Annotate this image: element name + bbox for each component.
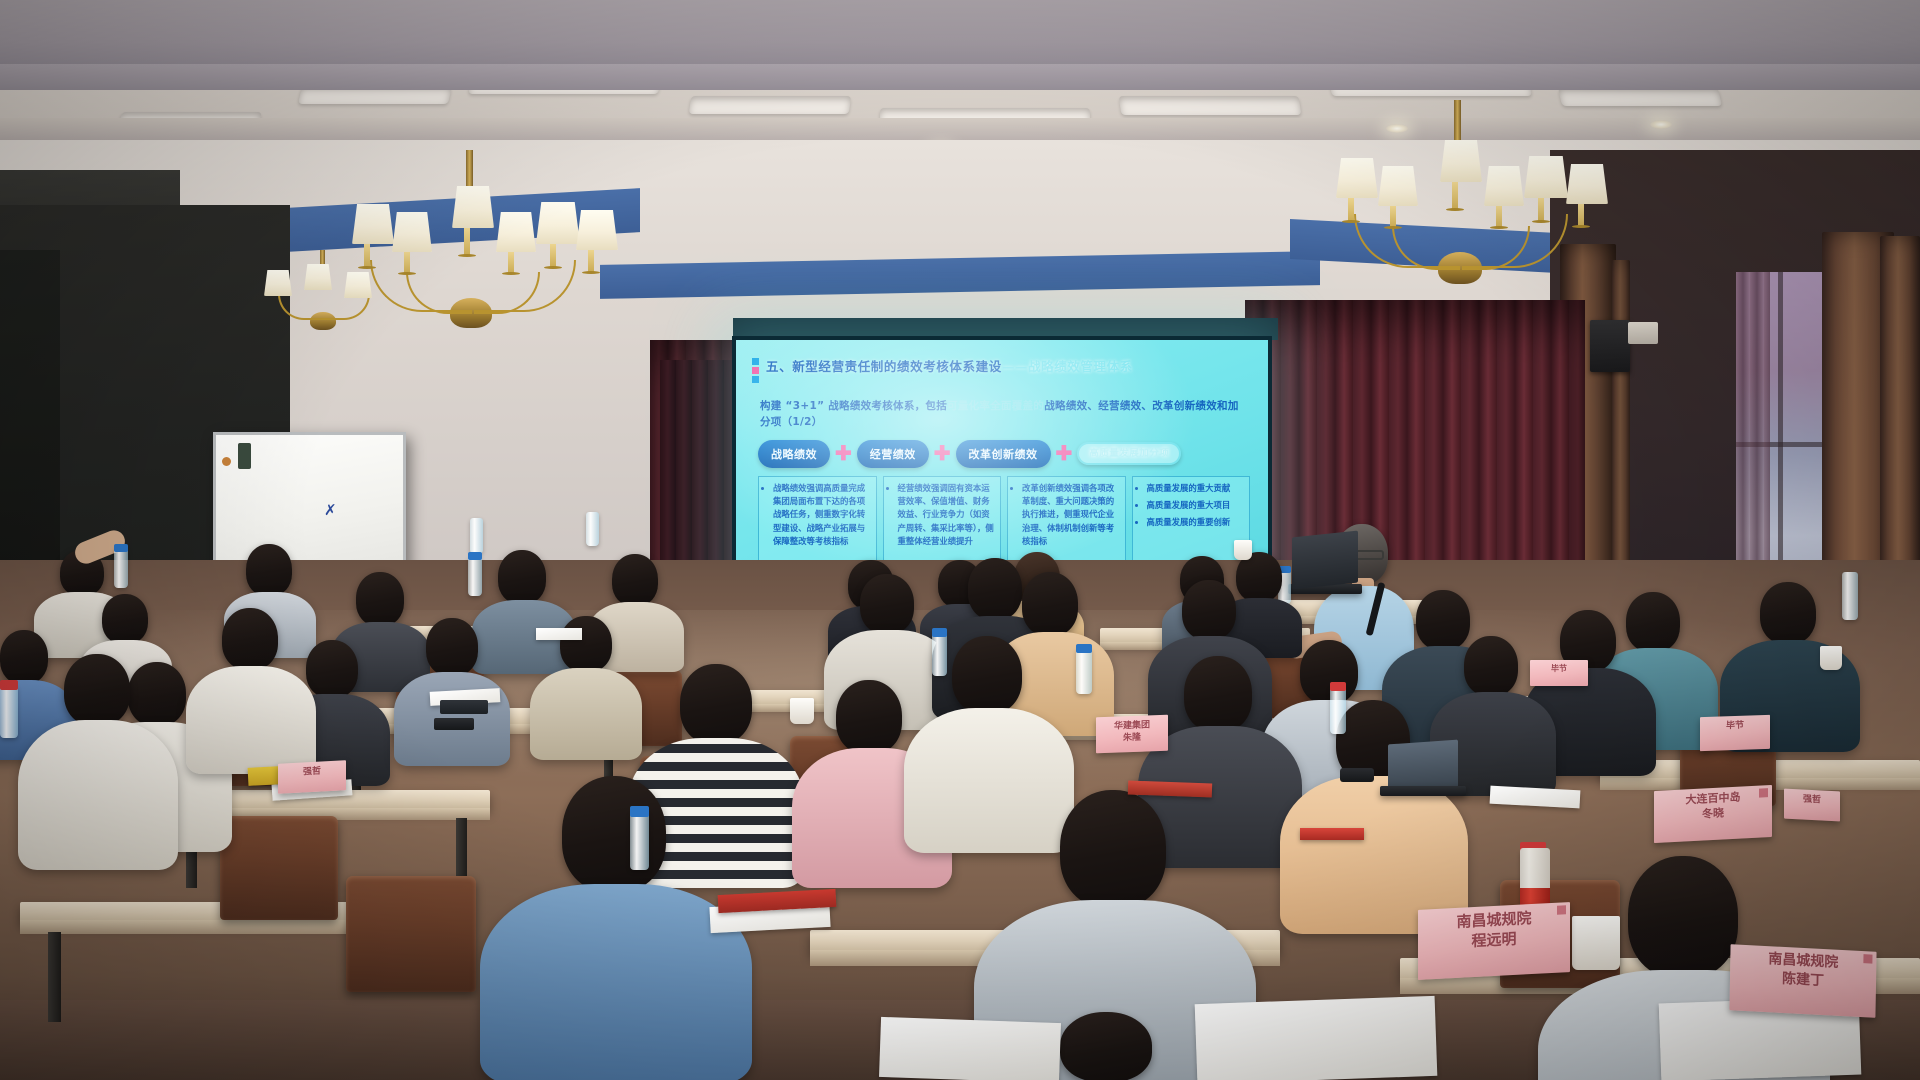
slide-bullet-squares-icon [752, 356, 759, 383]
chandelier-shade [344, 272, 372, 298]
chandelier-candle [1452, 178, 1458, 210]
placard-logo-icon [1557, 905, 1566, 914]
chandelier-candle [1578, 200, 1584, 227]
bottle-cap [114, 544, 128, 552]
name-placard: 南昌城规院 程远明 [1418, 902, 1570, 980]
chandelier-bobeche [544, 266, 562, 269]
plus-icon: ✚ [1056, 444, 1073, 464]
slide-box-item: 战略绩效强调高质量完成集团局面布置下达的各项战略任务，侧重数字化转型建设、战略产… [773, 482, 871, 549]
open-booklet [1195, 996, 1438, 1080]
attendee-head [306, 640, 358, 698]
chandelier-left-far [258, 250, 398, 340]
chandelier-bobeche [1490, 226, 1508, 229]
water-bottle [470, 518, 483, 554]
whiteboard-magnet [222, 457, 231, 466]
name-placard: 大连百中岛 冬晓 [1654, 785, 1772, 843]
downlight [1650, 120, 1672, 129]
placard-org: 强哲 [1784, 793, 1840, 808]
paper-cup [1234, 540, 1252, 560]
name-placard: 强哲 [278, 760, 346, 794]
placard-org: 强哲 [278, 764, 346, 780]
chandelier-candle [464, 224, 470, 256]
wall-vent [1628, 322, 1658, 344]
water-bottle [114, 548, 128, 588]
slide-body-text: 构建 “3+1” 战略绩效考核体系，包括可量化率全面覆盖的战略绩效、经营绩效、改… [760, 398, 1248, 431]
chandelier-candle [550, 240, 556, 268]
slide-title-main: 五、新型经营责任制的绩效考核体系建设 [766, 359, 1002, 374]
slide-title: 五、新型经营责任制的绩效考核体系建设——战略绩效管理体系 [766, 356, 1133, 375]
attendee-head [1060, 1012, 1152, 1080]
bottle-cap [1076, 644, 1092, 653]
water-bottle [0, 686, 18, 738]
attendee-head [860, 574, 914, 634]
attendee-head [968, 558, 1022, 620]
attendee-head [1060, 790, 1166, 908]
paper-cup [790, 698, 814, 724]
chandelier-shade [352, 204, 394, 244]
attendee-torso [186, 666, 316, 774]
chandelier-bobeche [398, 272, 416, 275]
chandelier-bobeche [1384, 226, 1402, 229]
bottle-cap [468, 552, 482, 560]
slide-title-sub: 战略绩效管理体系 [1028, 359, 1133, 374]
smartphone [1340, 768, 1374, 782]
placard-name: 朱隆 [1096, 731, 1168, 746]
placard-org: 毕节 [1700, 719, 1770, 734]
chandelier-bobeche [1342, 220, 1360, 223]
laptop-base [1380, 786, 1466, 796]
chandelier-arm [278, 294, 324, 320]
paper-cup [1820, 646, 1842, 670]
ceiling-soffit [0, 0, 1920, 70]
attendee-head [64, 654, 130, 726]
slide-box-item: 高质量发展的重要创新 [1147, 516, 1245, 529]
table-edge [20, 920, 350, 934]
chandelier-candle [588, 246, 594, 273]
water-bottle [1076, 648, 1092, 694]
chandelier-shade [1378, 166, 1418, 206]
slide-title-row: 五、新型经营责任制的绩效考核体系建设——战略绩效管理体系 [752, 356, 1254, 383]
attendee-head [1022, 572, 1078, 636]
slide-pill-bonus: 高质量发展加分项 [1077, 442, 1181, 466]
attendee-head [680, 664, 752, 744]
conference-room-photo: 五、新型经营责任制的绩效考核体系建设——战略绩效管理体系 构建 “3+1” 战略… [0, 0, 1920, 1080]
chandelier-bobeche [502, 272, 520, 275]
window-mullion [1778, 272, 1783, 602]
slide-pill-reform: 改革创新绩效 [956, 440, 1051, 468]
paper-cup [1572, 916, 1620, 970]
ceiling-coffer [1119, 96, 1302, 115]
chandelier-shade [576, 210, 618, 250]
chandelier-shade [1336, 158, 1378, 198]
placard-org: 毕节 [1530, 664, 1588, 675]
slide-pill-strategic: 战略绩效 [758, 440, 830, 468]
plus-icon: ✚ [835, 444, 852, 464]
water-bottle [1842, 572, 1858, 620]
book-red [1128, 781, 1212, 798]
chandelier-shade [452, 186, 494, 228]
chandelier-shade [1524, 156, 1568, 198]
attendee-head [836, 680, 902, 754]
slide-pill-operating: 经营绩效 [857, 440, 929, 468]
plus-icon: ✚ [934, 444, 951, 464]
ceiling-soffit-band [0, 64, 1920, 90]
smartphone [434, 718, 474, 730]
chandelier-shade [392, 212, 432, 252]
chandelier-bobeche [1532, 220, 1550, 223]
name-placard: 南昌城规院 陈建丁 [1729, 944, 1876, 1018]
water-bottle [468, 556, 482, 596]
table-leg [48, 932, 61, 1022]
chandelier-bobeche [1572, 225, 1590, 228]
slide-pill-row: 战略绩效 ✚ 经营绩效 ✚ 改革创新绩效 ✚ 高质量发展加分项 [758, 440, 1250, 468]
whiteboard-scribble: ✗ [324, 501, 340, 517]
tablet [440, 700, 488, 714]
ceiling-coffer [689, 96, 852, 114]
name-placard: 毕节 [1700, 715, 1770, 751]
placard-logo-icon [1759, 788, 1768, 797]
attendee-head [1416, 590, 1470, 650]
attendee-head [1184, 656, 1252, 732]
laptop-screen [1388, 740, 1458, 793]
attendee-head [1626, 592, 1680, 652]
slide-box-item: 高质量发展的重大贡献 [1147, 482, 1245, 495]
chandelier-shade [496, 212, 536, 252]
presenter-laptop-screen [1292, 531, 1358, 590]
name-placard: 华建集团 朱隆 [1096, 715, 1168, 754]
attendee-head [1464, 636, 1518, 696]
water-bottle [630, 812, 649, 870]
slide-title-dash: —— [1002, 359, 1028, 374]
bottle-cap [630, 806, 649, 817]
name-placard: 毕节 [1530, 660, 1588, 686]
attendee-torso [904, 708, 1074, 853]
attendee-head [562, 776, 666, 892]
whiteboard-marker [238, 443, 251, 469]
bottle-cap [1330, 682, 1346, 691]
water-bottle [932, 632, 947, 676]
chandelier-right [1280, 100, 1620, 320]
table-leg [456, 818, 467, 884]
bottle-cap [0, 680, 18, 690]
slide-box-item: 经营绩效强调固有资本运营效率、保值增值、财务效益、行业竞争力（如资产周转、集采比… [898, 482, 996, 549]
bottle-cap [932, 628, 947, 637]
chandelier-candle [1538, 194, 1544, 222]
chandelier-candle [1348, 194, 1354, 222]
attendee-head [560, 616, 612, 672]
attendee-torso [530, 668, 642, 760]
placard-logo-icon [1863, 954, 1872, 963]
attendee-head [498, 550, 546, 604]
chandelier-shade [264, 270, 292, 296]
chandelier-bobeche [582, 271, 600, 274]
chandelier-bobeche [458, 254, 476, 257]
attendee-head [612, 554, 658, 606]
attendee-head [0, 630, 48, 684]
chandelier-shade [304, 264, 332, 290]
book-red [1300, 828, 1364, 840]
wall-speaker [1590, 320, 1630, 372]
attendee-head [1182, 580, 1236, 640]
attendee-head [426, 618, 478, 676]
slide-body-faded: 可量化率全面覆盖的 [947, 400, 1044, 412]
slide-box-item: 高质量发展的重大项目 [1147, 499, 1245, 512]
window-curtain [1736, 272, 1770, 602]
attendee-head [1760, 582, 1816, 644]
chandelier-shade [536, 202, 580, 244]
attendee-head [102, 594, 148, 644]
chandelier-shade [1440, 140, 1482, 182]
attendee-head [1628, 856, 1738, 978]
chair [220, 816, 338, 920]
chandelier-shade [1566, 164, 1608, 204]
attendee-head [128, 662, 186, 726]
slide-box-item: 改革创新绩效强调各项改革制度、重大问题决策的执行推进，侧重现代企业治理、体制机制… [1022, 482, 1120, 549]
chandelier-shade [1484, 166, 1524, 206]
attendee-head [246, 544, 292, 596]
slide-body-pre: 构建 “3+1” 战略绩效考核体系，包括 [760, 400, 947, 412]
attendee-head [222, 608, 278, 670]
attendee-head [1300, 640, 1358, 704]
attendee-torso [18, 720, 178, 870]
attendee-head [356, 572, 404, 626]
chandelier-bobeche [1446, 208, 1464, 211]
chair [346, 876, 476, 992]
water-bottle [586, 512, 599, 546]
water-bottle [1330, 686, 1346, 734]
attendee-head [952, 636, 1022, 714]
paper-handout [536, 628, 582, 640]
name-placard: 强哲 [1784, 789, 1840, 822]
open-booklet [879, 1017, 1061, 1080]
